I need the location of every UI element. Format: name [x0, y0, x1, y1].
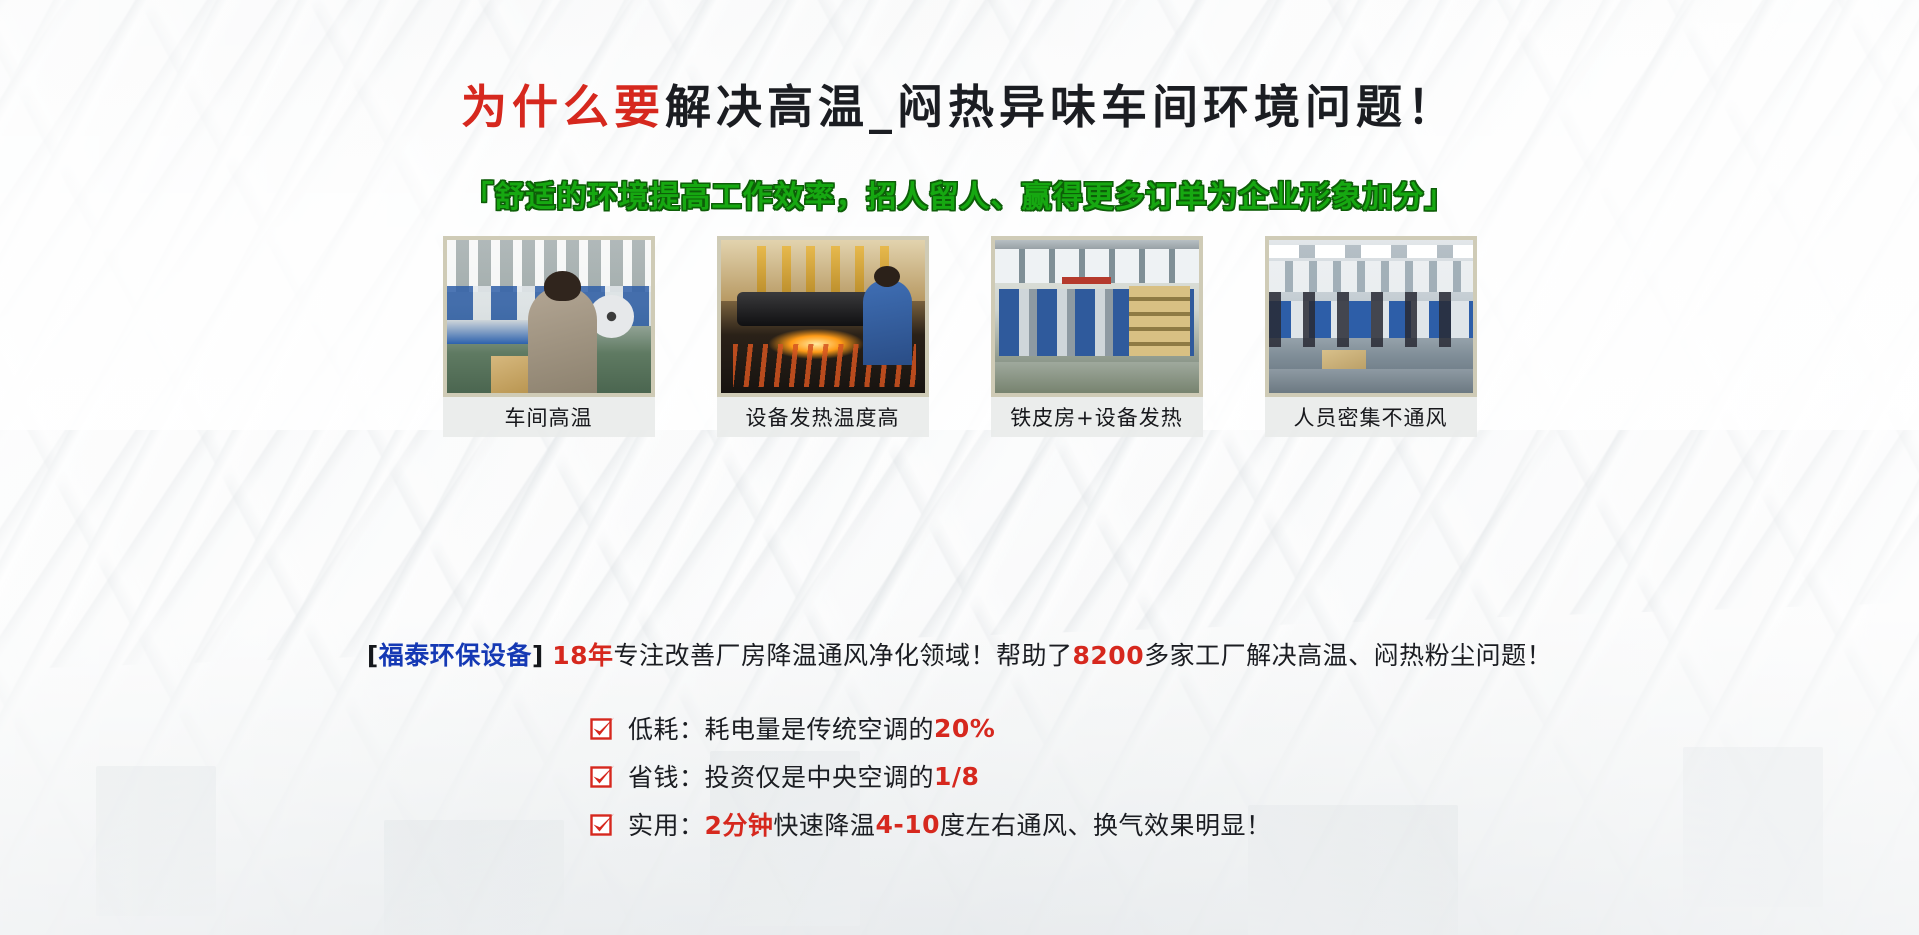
banner-content: 为什么要解决高温_闷热异味车间环境问题！ 「舒适的环境提高工作效率，招人留人、赢… — [0, 0, 1919, 935]
benefit-emphasis: 20% — [934, 714, 995, 743]
problem-photo-equipment-heat — [717, 236, 929, 397]
page-title: 为什么要解决高温_闷热异味车间环境问题！ — [0, 84, 1919, 130]
problem-card-caption: 设备发热温度高 — [717, 397, 929, 437]
benefit-list: 低耗：耗电量是传统空调的20% 省钱：投资仅是中央空调的1/8 — [590, 710, 1272, 842]
benefit-item-cost-saving: 省钱：投资仅是中央空调的1/8 — [590, 758, 1272, 794]
benefit-label: 实用： — [628, 806, 705, 842]
promo-banner: 为什么要解决高温_闷热异味车间环境问题！ 「舒适的环境提高工作效率，招人留人、赢… — [0, 0, 1919, 935]
factory-count: 8200 — [1073, 641, 1145, 670]
years-experience: 18年 — [552, 641, 613, 670]
problem-card: 车间高温 — [443, 236, 655, 437]
benefit-middle: 快速降温 — [773, 806, 875, 842]
check-box-icon — [590, 812, 615, 837]
intro-tail-text: 多家工厂解决高温、闷热粉尘问题！ — [1144, 641, 1552, 670]
problem-card-caption: 车间高温 — [443, 397, 655, 437]
benefit-emphasis: 2分钟 — [705, 806, 774, 842]
check-box-icon — [590, 764, 615, 789]
benefit-item-low-power: 低耗：耗电量是传统空调的20% — [590, 710, 1272, 746]
problem-card-caption: 人员密集不通风 — [1265, 397, 1477, 437]
bracket-open: [ — [367, 641, 379, 670]
problem-photo-workshop-heat — [443, 236, 655, 397]
benefit-suffix: 度左右通风、换气效果明显！ — [940, 806, 1272, 842]
problem-photo-crowded-line — [1265, 236, 1477, 397]
page-title-rest: 解决高温_闷热异味车间环境问题！ — [665, 80, 1458, 134]
company-name: 福泰环保设备 — [379, 641, 532, 670]
benefit-item-practical: 实用：2分钟快速降温4-10度左右通风、换气效果明显！ — [590, 806, 1272, 842]
bracket-close: ] — [532, 641, 544, 670]
problem-card: 设备发热温度高 — [717, 236, 929, 437]
page-subtitle: 「舒适的环境提高工作效率，招人留人、赢得更多订单为企业形象加分」 — [0, 172, 1919, 216]
company-intro-line: [福泰环保设备] 18年专注改善厂房降温通风净化领域！帮助了8200多家工厂解决… — [0, 636, 1919, 672]
benefit-label: 省钱：投资仅是中央空调的 — [628, 758, 934, 794]
problem-card-caption: 铁皮房+设备发热 — [991, 397, 1203, 437]
benefit-emphasis-secondary: 4-10 — [875, 810, 940, 839]
problem-card: 铁皮房+设备发热 — [991, 236, 1203, 437]
benefit-emphasis: 1/8 — [934, 762, 979, 791]
problem-photo-steel-shed — [991, 236, 1203, 397]
page-title-highlight: 为什么要 — [461, 80, 665, 134]
problem-card: 人员密集不通风 — [1265, 236, 1477, 437]
check-box-icon — [590, 716, 615, 741]
intro-middle-text: 专注改善厂房降温通风净化领域！帮助了 — [614, 641, 1073, 670]
problem-card-list: 车间高温 设备发热温度高 — [443, 236, 1477, 437]
benefit-label: 低耗：耗电量是传统空调的 — [628, 710, 934, 746]
